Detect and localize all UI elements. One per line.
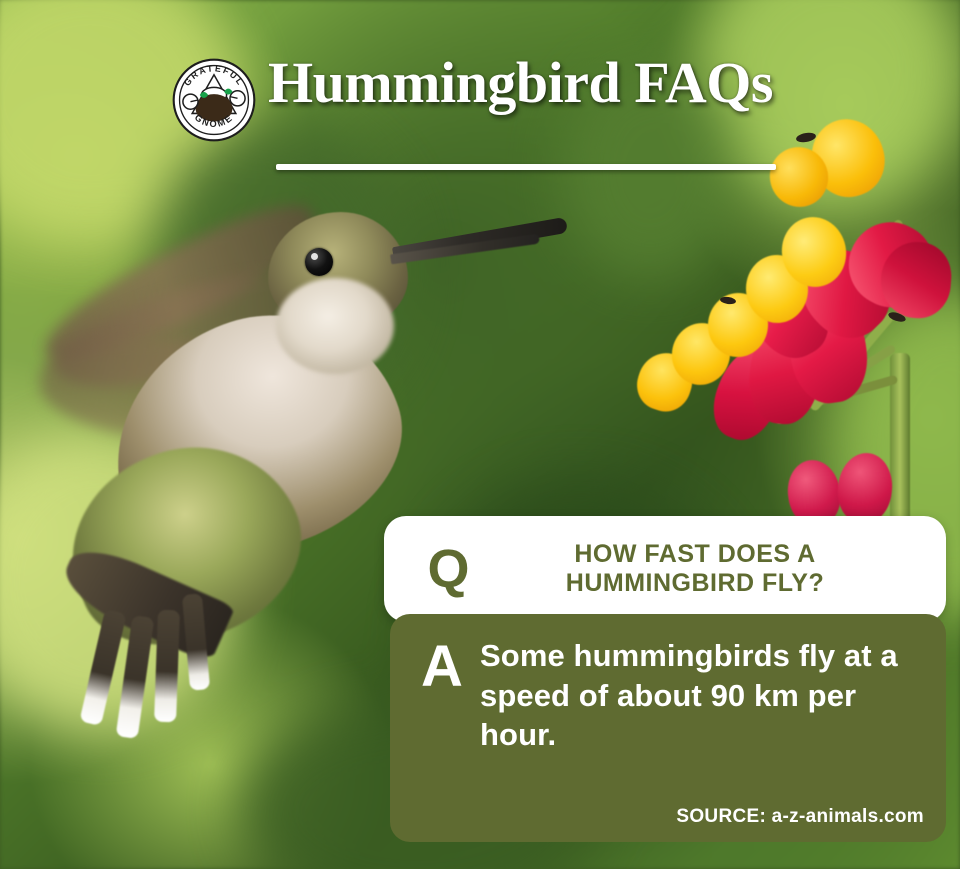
poster-header: GRATEFUL GNOME Hummingbird FAQs bbox=[0, 46, 960, 142]
answer-text: Some hummingbirds fly at a speed of abou… bbox=[480, 636, 924, 834]
answer-badge: A bbox=[404, 636, 480, 834]
source-attribution: SOURCE: a-z-animals.com bbox=[676, 806, 924, 828]
faq-poster: GRATEFUL GNOME Hummingbird FAQs Q HOW FA… bbox=[0, 0, 960, 869]
page-title: Hummingbird FAQs bbox=[268, 54, 773, 112]
title-underline bbox=[276, 164, 776, 170]
grateful-gnome-logo: GRATEFUL GNOME bbox=[172, 58, 256, 142]
question-text: HOW FAST DOES A HUMMINGBIRD FLY? bbox=[490, 540, 926, 599]
answer-card: A Some hummingbirds fly at a speed of ab… bbox=[390, 614, 946, 842]
question-card: Q HOW FAST DOES A HUMMINGBIRD FLY? bbox=[384, 516, 946, 622]
faq-card-group: Q HOW FAST DOES A HUMMINGBIRD FLY? A Som… bbox=[384, 516, 946, 842]
question-badge: Q bbox=[406, 542, 490, 596]
